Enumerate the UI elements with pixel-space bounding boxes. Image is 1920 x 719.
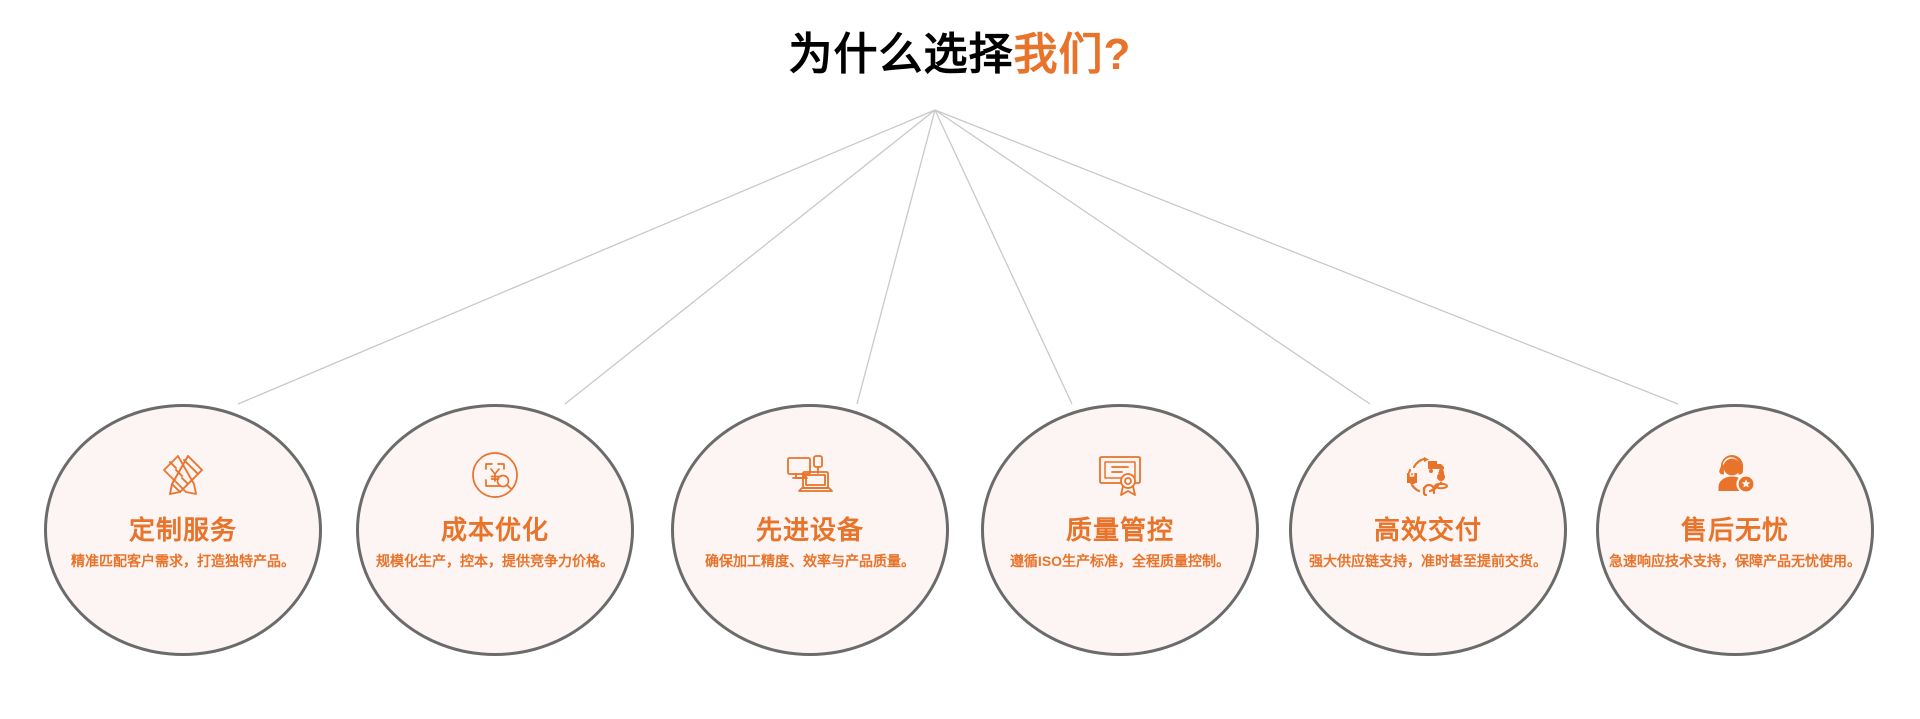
support-headset-agent-icon (1710, 451, 1760, 499)
feature-node-quality-control[interactable]: 质量管控 遵循ISO生产标准，全程质量控制。 (981, 404, 1259, 656)
feature-node-cost-optimization[interactable]: 成本优化 规模化生产，控本，提供竞争力价格。 (356, 404, 634, 656)
connector-line-5 (935, 110, 1370, 404)
feature-description: 精准匹配客户需求，打造独特产品。 (71, 552, 295, 570)
feature-description: 确保加工精度、效率与产品质量。 (705, 552, 915, 570)
feature-node-custom-service[interactable]: 定制服务 精准匹配客户需求，打造独特产品。 (44, 404, 322, 656)
connector-line-3 (857, 110, 935, 404)
feature-description: 规模化生产，控本，提供竞争力价格。 (376, 552, 614, 570)
page-title: 为什么选择我们? (0, 26, 1920, 84)
connector-line-1 (238, 110, 935, 404)
feature-title: 质量管控 (1066, 515, 1174, 545)
certificate-award-icon (1095, 451, 1145, 499)
connector-line-4 (935, 110, 1072, 404)
feature-title: 定制服务 (129, 515, 237, 545)
monitor-laptop-icon (784, 451, 836, 499)
feature-title: 售后无忧 (1681, 515, 1789, 545)
cost-yen-search-icon (470, 451, 520, 499)
feature-node-efficient-delivery[interactable]: 高效交付 强大供应链支持，准时甚至提前交货。 (1289, 404, 1567, 656)
ruler-pencil-icon (158, 451, 208, 499)
feature-description: 强大供应链支持，准时甚至提前交货。 (1309, 552, 1547, 570)
feature-title: 先进设备 (756, 515, 864, 545)
feature-node-after-sales[interactable]: 售后无忧 急速响应技术支持，保障产品无忧使用。 (1596, 404, 1874, 656)
page-title-gray-part: 为什么选择 (789, 30, 1014, 79)
feature-description: 遵循ISO生产标准，全程质量控制。 (1010, 552, 1230, 570)
connector-line-6 (935, 110, 1678, 404)
feature-title: 高效交付 (1374, 515, 1482, 545)
supply-chain-truck-icon (1401, 451, 1455, 499)
feature-description: 急速响应技术支持，保障产品无忧使用。 (1609, 552, 1861, 570)
diagram-stage: 为什么选择我们? 定制服务 精准匹配客户需求，打造独特产品。 (0, 0, 1920, 719)
feature-title: 成本优化 (441, 515, 549, 545)
connector-line-2 (565, 110, 935, 404)
feature-node-advanced-equipment[interactable]: 先进设备 确保加工精度、效率与产品质量。 (671, 404, 949, 656)
page-title-accent-part: 我们? (1014, 30, 1132, 79)
